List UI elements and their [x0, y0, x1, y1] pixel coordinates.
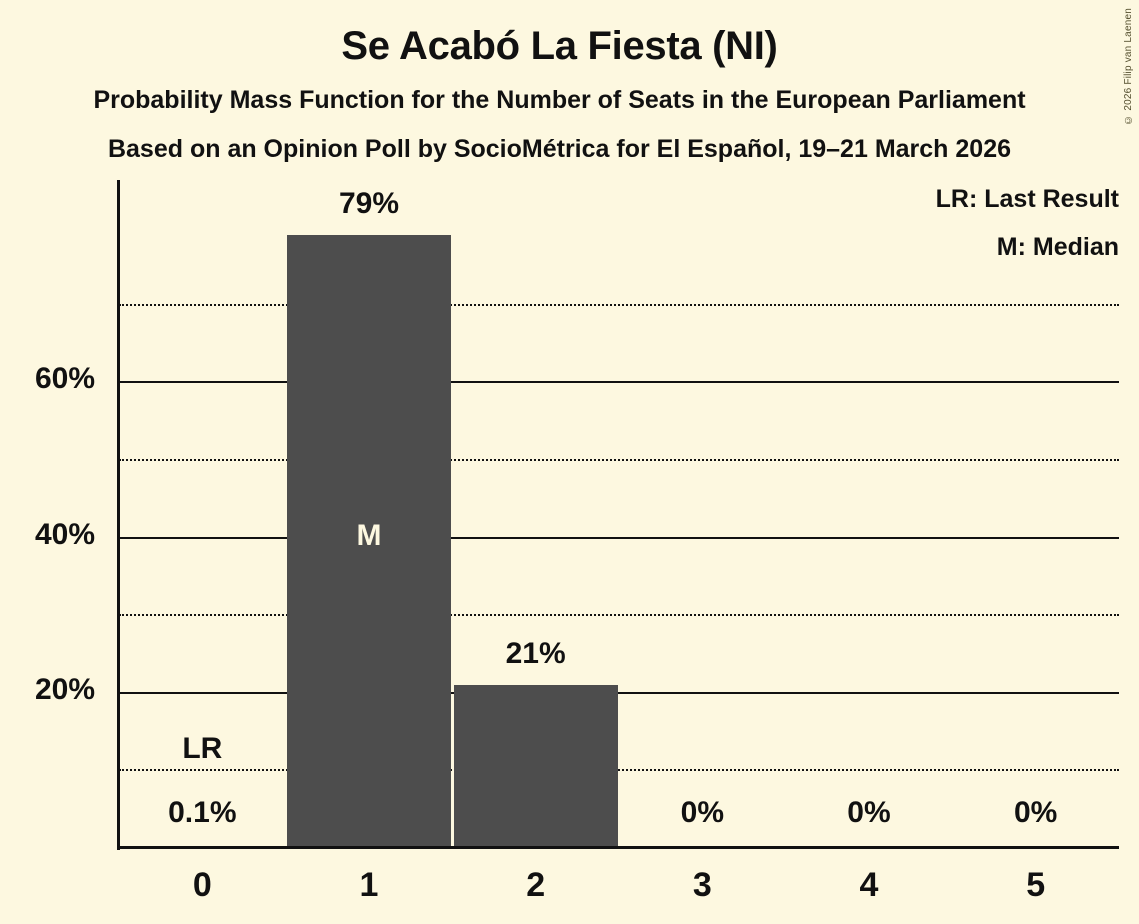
y-axis-tick-label-40: 40%: [0, 518, 95, 552]
x-axis-tick-label-3: 3: [619, 866, 786, 905]
bar-value-label-2: 21%: [452, 637, 619, 671]
gridline-major-40: [119, 537, 1119, 539]
gridline-major-60: [119, 381, 1119, 383]
gridline-minor-50: [119, 459, 1119, 461]
chart-subtitle-primary: Probability Mass Function for the Number…: [0, 86, 1119, 115]
gridline-minor-70: [119, 304, 1119, 306]
x-axis-line: [117, 846, 1119, 849]
gridline-major-20: [119, 692, 1119, 694]
bar-value-label-0: 0.1%: [119, 796, 286, 830]
bar-value-label-3: 0%: [619, 796, 786, 830]
marker-median-1: M: [286, 519, 453, 553]
copyright-notice: © 2026 Filip van Laenen: [1123, 8, 1137, 125]
gridline-minor-10: [119, 769, 1119, 771]
chart-canvas: Se Acabó La Fiesta (NI) Probability Mass…: [0, 0, 1139, 924]
legend-entry-median: M: Median: [997, 233, 1119, 262]
y-axis-tick-label-20: 20%: [0, 673, 95, 707]
x-axis-tick-label-1: 1: [286, 866, 453, 905]
chart-title: Se Acabó La Fiesta (NI): [0, 24, 1119, 69]
bar-value-label-4: 0%: [786, 796, 953, 830]
bar-value-label-1: 79%: [286, 187, 453, 221]
x-axis-tick-label-4: 4: [786, 866, 953, 905]
marker-last-result-0: LR: [119, 732, 286, 766]
bar-value-label-5: 0%: [952, 796, 1119, 830]
chart-subtitle-secondary: Based on an Opinion Poll by SocioMétrica…: [0, 135, 1119, 164]
x-axis-tick-label-2: 2: [452, 866, 619, 905]
y-axis-line: [117, 180, 120, 850]
bar-2: [454, 685, 618, 848]
x-axis-tick-label-0: 0: [119, 866, 286, 905]
x-axis-tick-label-5: 5: [952, 866, 1119, 905]
legend-entry-last-result: LR: Last Result: [936, 185, 1119, 214]
gridline-minor-30: [119, 614, 1119, 616]
y-axis-tick-label-60: 60%: [0, 362, 95, 396]
